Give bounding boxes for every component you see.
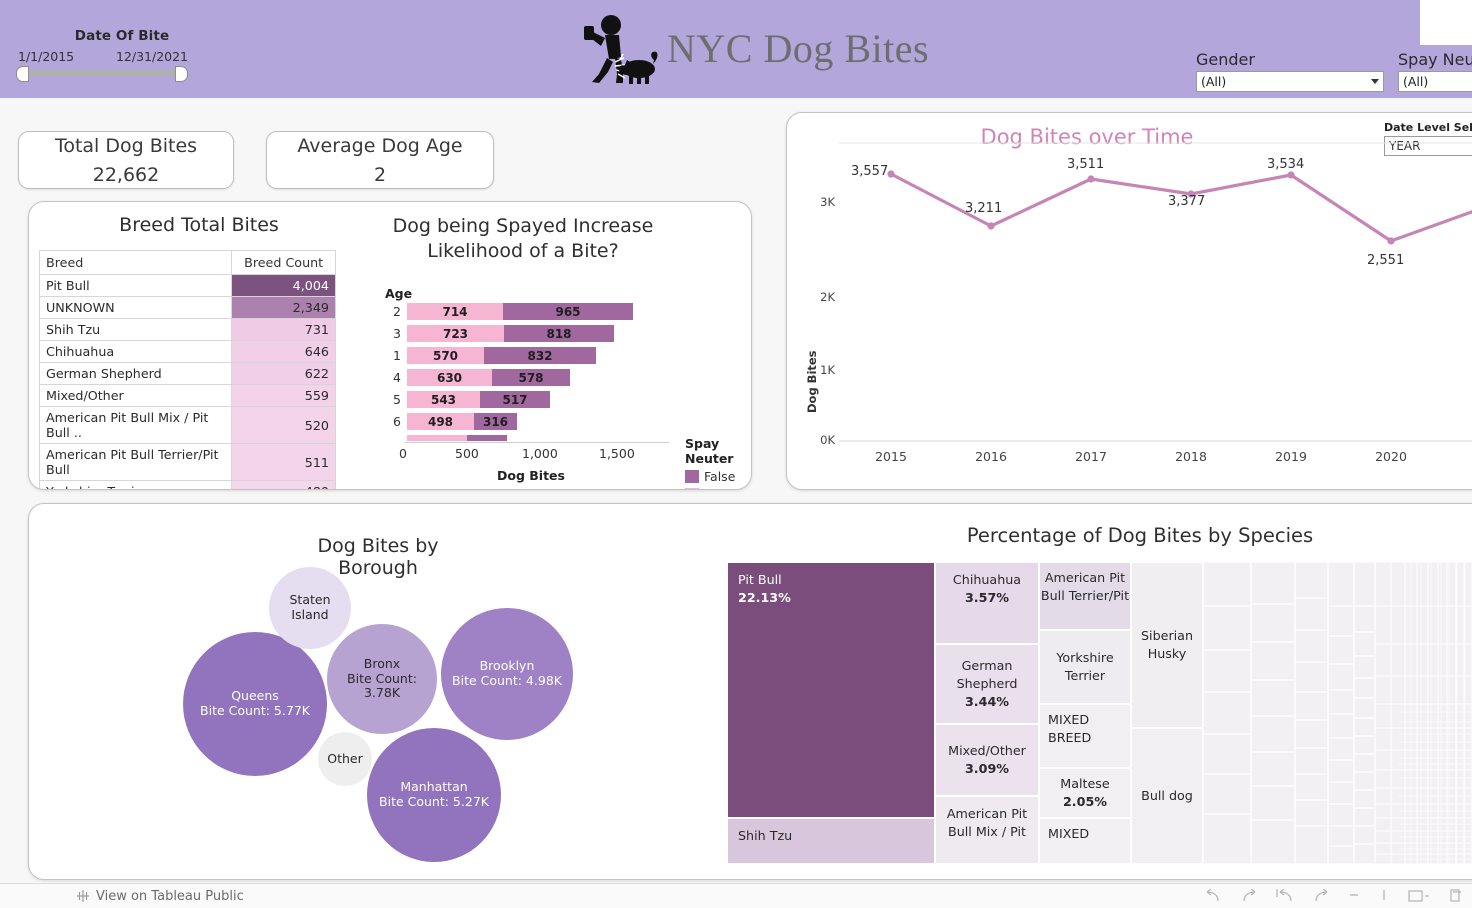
count-cell: 4,004 bbox=[232, 275, 336, 297]
y-tick: 1K bbox=[809, 363, 835, 377]
bubble-value: Bite Count: 3.78K bbox=[343, 672, 421, 702]
redo-icon[interactable] bbox=[1240, 889, 1258, 903]
bar-segment-true[interactable]: 543 bbox=[407, 391, 480, 408]
spay-bars: 2 714 965 3 723 818 1 570 832 4 630 bbox=[381, 302, 721, 444]
tile-label: Mixed/Other bbox=[948, 742, 1026, 760]
legend-swatch-true bbox=[685, 488, 699, 490]
data-point[interactable] bbox=[1287, 171, 1294, 178]
legend-label-true: True bbox=[704, 487, 731, 490]
bubble-value: Bite Count: 4.98K bbox=[452, 674, 562, 689]
dashboard-footer: View on Tableau Public bbox=[0, 883, 1472, 908]
tile-label: Chihuahua bbox=[953, 571, 1021, 589]
bar-row[interactable]: 5 543 517 bbox=[381, 390, 721, 409]
slider-handle-left[interactable] bbox=[16, 66, 29, 82]
legend-swatch-false bbox=[685, 470, 699, 483]
treemap-tile-chihuahua[interactable]: Chihuahua 3.57% bbox=[935, 562, 1039, 644]
breed-table-body: Pit Bull4,004 UNKNOWN2,349 Shih Tzu731 C… bbox=[40, 275, 336, 491]
breed-cell: Mixed/Other bbox=[40, 385, 232, 407]
legend-title: Spay Neuter bbox=[685, 436, 747, 466]
spay-x-axis-label: Dog Bites bbox=[497, 468, 565, 483]
treemap-tile-pit-bull[interactable]: Pit Bull 22.13% bbox=[727, 562, 935, 818]
tile-value: 22.13% bbox=[738, 589, 924, 607]
table-row[interactable]: Mixed/Other559 bbox=[40, 385, 336, 407]
x-tick: 2018 bbox=[1156, 449, 1226, 464]
tile-value: 3.09% bbox=[965, 760, 1009, 778]
person-bitten-by-dog-icon bbox=[575, 12, 663, 84]
footer-label: View on Tableau Public bbox=[96, 889, 244, 904]
line-y-axis-label: Dog Bites bbox=[805, 350, 819, 413]
kpi-average-dog-age: Average Dog Age 2 bbox=[266, 131, 494, 189]
bar-segment-false[interactable]: 517 bbox=[480, 391, 550, 408]
x-tick: 0 bbox=[399, 446, 407, 461]
bar-category-label: 2 bbox=[381, 304, 401, 319]
bubble-other[interactable]: Other bbox=[318, 732, 372, 786]
undo-icon[interactable] bbox=[1204, 889, 1222, 903]
kpi-value: 22,662 bbox=[93, 164, 159, 186]
table-row[interactable]: American Pit Bull Terrier/Pit Bull511 bbox=[40, 444, 336, 481]
dog-bites-over-time-panel: Dog Bites over Time Date Level Sele YEAR… bbox=[786, 112, 1472, 490]
gender-select-value: (All) bbox=[1201, 74, 1226, 89]
legend-item-true[interactable]: True bbox=[685, 487, 747, 490]
tile-label: Pit Bull bbox=[738, 571, 924, 589]
treemap-tile-mixed-other[interactable]: Mixed/Other 3.09% bbox=[935, 724, 1039, 796]
gender-select[interactable]: (All) bbox=[1196, 71, 1384, 92]
x-tick: 1,500 bbox=[599, 446, 635, 461]
count-cell: 480 bbox=[232, 481, 336, 491]
date-filter-label: Date Of Bite bbox=[32, 28, 212, 44]
tile-value: 2.05% bbox=[1063, 793, 1107, 811]
point-label: 3,511 bbox=[1067, 157, 1104, 172]
treemap-tile-american-pit-bull-mix[interactable]: American Pit Bull Mix / Pit bbox=[935, 796, 1039, 864]
bar-segment-true[interactable]: 570 bbox=[407, 347, 484, 364]
treemap-tile-american-pit-bull-terrier[interactable]: American Pit Bull Terrier/Pit bbox=[1039, 562, 1131, 630]
date-range-slider[interactable] bbox=[18, 70, 186, 76]
y-tick: 0K bbox=[809, 433, 835, 447]
tile-label: German Shepherd bbox=[936, 657, 1038, 693]
breed-and-spay-panel: Breed Total Bites Breed Breed Count Pit … bbox=[28, 201, 752, 490]
date-range-labels: 1/1/2015 12/31/2021 bbox=[18, 49, 188, 64]
brand: NYC Dog Bites bbox=[575, 12, 929, 84]
legend-item-false[interactable]: False bbox=[685, 469, 747, 484]
line-chart-plot[interactable] bbox=[839, 130, 1472, 448]
view-on-tableau-public-link[interactable]: View on Tableau Public bbox=[76, 889, 244, 904]
data-point[interactable] bbox=[987, 222, 994, 229]
bubble-manhattan[interactable]: Manhattan Bite Count: 5.27K bbox=[367, 728, 501, 862]
treemap-tile-shih-tzu[interactable]: Shih Tzu bbox=[727, 818, 935, 864]
kpi-title: Average Dog Age bbox=[297, 135, 462, 157]
bar-segment-true[interactable]: 630 bbox=[407, 369, 492, 386]
bubble-brooklyn[interactable]: Brooklyn Bite Count: 4.98K bbox=[441, 608, 573, 740]
tile-value: 3.57% bbox=[965, 589, 1009, 607]
bar-segment-false[interactable]: 965 bbox=[503, 303, 633, 320]
spay-x-axis bbox=[405, 442, 669, 443]
download-icon[interactable] bbox=[1448, 889, 1464, 903]
tile-label: MIXED bbox=[1048, 825, 1122, 843]
breed-cell: American Pit Bull Mix / Pit Bull .. bbox=[40, 407, 232, 444]
point-label: 2,551 bbox=[1367, 253, 1404, 268]
count-cell: 646 bbox=[232, 341, 336, 363]
tile-label: American Pit Bull Terrier/Pit bbox=[1040, 569, 1130, 605]
spay-chart-y-axis-label: Age bbox=[385, 286, 412, 301]
bar-row[interactable]: 1 570 832 bbox=[381, 346, 721, 365]
table-row[interactable]: American Pit Bull Mix / Pit Bull ..520 bbox=[40, 407, 336, 444]
bar-segment-true[interactable]: 498 bbox=[407, 413, 474, 430]
breed-table-header-row: Breed Breed Count bbox=[40, 251, 336, 275]
bubble-label: Manhattan bbox=[400, 780, 467, 795]
bar-category-label: 5 bbox=[381, 392, 401, 407]
spay-bar-chart-section: Dog being Spayed Increase Likelihood of … bbox=[367, 214, 747, 263]
bubble-label: Other bbox=[327, 752, 363, 767]
tile-label: Shih Tzu bbox=[738, 827, 924, 845]
count-cell: 622 bbox=[232, 363, 336, 385]
x-tick: 2019 bbox=[1256, 449, 1326, 464]
table-row[interactable]: Pit Bull4,004 bbox=[40, 275, 336, 297]
tableau-icon bbox=[76, 889, 90, 903]
y-tick: 2K bbox=[809, 290, 835, 304]
tile-label: Yorkshire Terrier bbox=[1040, 649, 1130, 685]
bubble-label: Brooklyn bbox=[480, 659, 535, 674]
spay-neuter-filter-label: Spay Neut bbox=[1398, 50, 1472, 69]
count-cell: 520 bbox=[232, 407, 336, 444]
bar-category-label: 3 bbox=[381, 326, 401, 341]
date-of-bite-filter[interactable]: Date Of Bite 1/1/2015 12/31/2021 bbox=[18, 28, 228, 76]
x-tick: 2020 bbox=[1356, 449, 1426, 464]
tile-label: Siberian Husky bbox=[1132, 627, 1202, 663]
point-label: 3,557 bbox=[851, 164, 888, 179]
pause-icon[interactable] bbox=[1348, 889, 1360, 903]
count-cell: 731 bbox=[232, 319, 336, 341]
treemap-tile-maltese[interactable]: Maltese 2.05% bbox=[1039, 768, 1131, 818]
point-label: 3,534 bbox=[1267, 157, 1304, 172]
bubble-label: Bronx bbox=[364, 657, 400, 672]
treemap-tile-siberian-husky[interactable]: Siberian Husky bbox=[1131, 562, 1203, 728]
bubble-value: Bite Count: 5.77K bbox=[200, 704, 310, 719]
count-cell: 511 bbox=[232, 444, 336, 481]
bar-row[interactable]: 4 630 578 bbox=[381, 368, 721, 387]
spay-neuter-select-value: (All) bbox=[1403, 74, 1428, 89]
page-title: NYC Dog Bites bbox=[667, 25, 929, 72]
revert-icon[interactable] bbox=[1276, 889, 1294, 903]
point-label: 3,377 bbox=[1168, 194, 1205, 209]
bar-row[interactable]: 2 714 965 bbox=[381, 302, 721, 321]
header-corner-box bbox=[1420, 0, 1472, 45]
fullscreen-icon[interactable] bbox=[1408, 889, 1430, 903]
breed-count-col-header[interactable]: Breed Count bbox=[232, 251, 336, 275]
kpi-value: 2 bbox=[374, 164, 386, 186]
bar-segment-false[interactable]: 316 bbox=[474, 413, 517, 430]
data-point[interactable] bbox=[887, 170, 894, 177]
breed-table-title: Breed Total Bites bbox=[39, 214, 359, 236]
treemap-small-tiles[interactable] bbox=[1203, 562, 1472, 864]
treemap-tile-mixed[interactable]: MIXED bbox=[1039, 818, 1131, 864]
breed-cell: German Shepherd bbox=[40, 363, 232, 385]
bar-segment-true[interactable] bbox=[407, 435, 467, 441]
bar-segment-true[interactable]: 723 bbox=[407, 325, 504, 342]
treemap-tile-mixed-breed[interactable]: MIXED BREED bbox=[1039, 704, 1131, 768]
bar-segment-false[interactable]: 832 bbox=[484, 347, 596, 364]
table-row[interactable]: German Shepherd622 bbox=[40, 363, 336, 385]
legend-label-false: False bbox=[704, 469, 735, 484]
share-icon[interactable] bbox=[1378, 889, 1390, 903]
bubble-staten-island[interactable]: Staten Island bbox=[269, 567, 351, 649]
bar-category-label: 4 bbox=[381, 370, 401, 385]
spay-x-ticks: 0 500 1,000 1,500 bbox=[367, 446, 707, 462]
breed-total-bites-section: Breed Total Bites Breed Breed Count Pit … bbox=[39, 214, 359, 490]
count-cell: 2,349 bbox=[232, 297, 336, 319]
dashboard-root: Date Of Bite 1/1/2015 12/31/2021 bbox=[0, 0, 1472, 908]
breed-cell: UNKNOWN bbox=[40, 297, 232, 319]
data-point[interactable] bbox=[1387, 237, 1394, 244]
table-row[interactable]: Shih Tzu731 bbox=[40, 319, 336, 341]
bar-segment-true[interactable]: 714 bbox=[407, 303, 503, 320]
breed-table[interactable]: Breed Breed Count Pit Bull4,004 UNKNOWN2… bbox=[39, 250, 336, 490]
tile-label: American Pit Bull Mix / Pit bbox=[936, 805, 1038, 841]
treemap-tile-bull-dog[interactable]: Bull dog bbox=[1131, 728, 1203, 864]
gender-filter[interactable]: Gender (All) bbox=[1196, 50, 1384, 92]
gender-filter-label: Gender bbox=[1196, 50, 1384, 69]
bar-segment-false[interactable]: 578 bbox=[492, 369, 570, 386]
count-cell: 559 bbox=[232, 385, 336, 407]
table-row[interactable]: UNKNOWN2,349 bbox=[40, 297, 336, 319]
data-point[interactable] bbox=[1087, 175, 1094, 182]
bar-category-label: 6 bbox=[381, 414, 401, 429]
bubble-label: Queens bbox=[231, 689, 279, 704]
footer-toolbar bbox=[1204, 889, 1464, 903]
breed-cell: Chihuahua bbox=[40, 341, 232, 363]
dashboard-header: Date Of Bite 1/1/2015 12/31/2021 bbox=[0, 0, 1472, 98]
y-tick: 3K bbox=[809, 195, 835, 209]
x-tick: 1,000 bbox=[522, 446, 558, 461]
breed-cell: Yorkshire Terrier bbox=[40, 481, 232, 491]
bubble-label: Staten Island bbox=[282, 593, 338, 623]
date-range-min: 1/1/2015 bbox=[18, 49, 74, 64]
treemap-title: Percentage of Dog Bites by Species bbox=[930, 524, 1350, 547]
spay-neuter-select[interactable]: (All) bbox=[1398, 71, 1472, 92]
x-tick: 2017 bbox=[1056, 449, 1126, 464]
refresh-icon[interactable] bbox=[1312, 889, 1330, 903]
tile-label: Bull dog bbox=[1141, 787, 1193, 805]
breed-col-header[interactable]: Breed bbox=[40, 251, 232, 275]
bar-segment-false[interactable] bbox=[467, 435, 507, 441]
tile-value: 3.44% bbox=[965, 693, 1009, 711]
x-tick: 2016 bbox=[956, 449, 1026, 464]
tile-label: Maltese bbox=[1060, 775, 1109, 793]
breed-cell: Pit Bull bbox=[40, 275, 232, 297]
table-row[interactable]: Yorkshire Terrier480 bbox=[40, 481, 336, 491]
bubble-bronx[interactable]: Bronx Bite Count: 3.78K bbox=[327, 624, 437, 734]
bubble-queens[interactable]: Queens Bite Count: 5.77K bbox=[183, 632, 327, 776]
kpi-title: Total Dog Bites bbox=[55, 135, 197, 157]
treemap-tile-german-shepherd[interactable]: German Shepherd 3.44% bbox=[935, 644, 1039, 724]
chevron-down-icon bbox=[1371, 79, 1379, 84]
point-label: 3,211 bbox=[965, 201, 1002, 216]
kpi-total-dog-bites: Total Dog Bites 22,662 bbox=[18, 131, 234, 189]
treemap-tile-yorkshire-terrier[interactable]: Yorkshire Terrier bbox=[1039, 630, 1131, 704]
x-tick: 2015 bbox=[856, 449, 926, 464]
spay-legend: Spay Neuter False True bbox=[685, 436, 747, 490]
breed-cell: Shih Tzu bbox=[40, 319, 232, 341]
tile-label: MIXED BREED bbox=[1048, 711, 1122, 747]
date-range-max: 12/31/2021 bbox=[116, 49, 188, 64]
bubble-value: Bite Count: 5.27K bbox=[379, 795, 489, 810]
spay-chart-title: Dog being Spayed Increase Likelihood of … bbox=[373, 214, 673, 263]
bar-row[interactable]: 3 723 818 bbox=[381, 324, 721, 343]
table-row[interactable]: Chihuahua646 bbox=[40, 341, 336, 363]
x-tick: 500 bbox=[455, 446, 479, 461]
bar-row-clipped[interactable] bbox=[381, 434, 721, 441]
slider-handle-right[interactable] bbox=[175, 66, 188, 82]
bar-row[interactable]: 6 498 316 bbox=[381, 412, 721, 431]
bar-category-label: 1 bbox=[381, 348, 401, 363]
bar-segment-false[interactable]: 818 bbox=[504, 325, 614, 342]
breed-cell: American Pit Bull Terrier/Pit Bull bbox=[40, 444, 232, 481]
spay-neuter-filter[interactable]: Spay Neut (All) bbox=[1398, 50, 1472, 92]
